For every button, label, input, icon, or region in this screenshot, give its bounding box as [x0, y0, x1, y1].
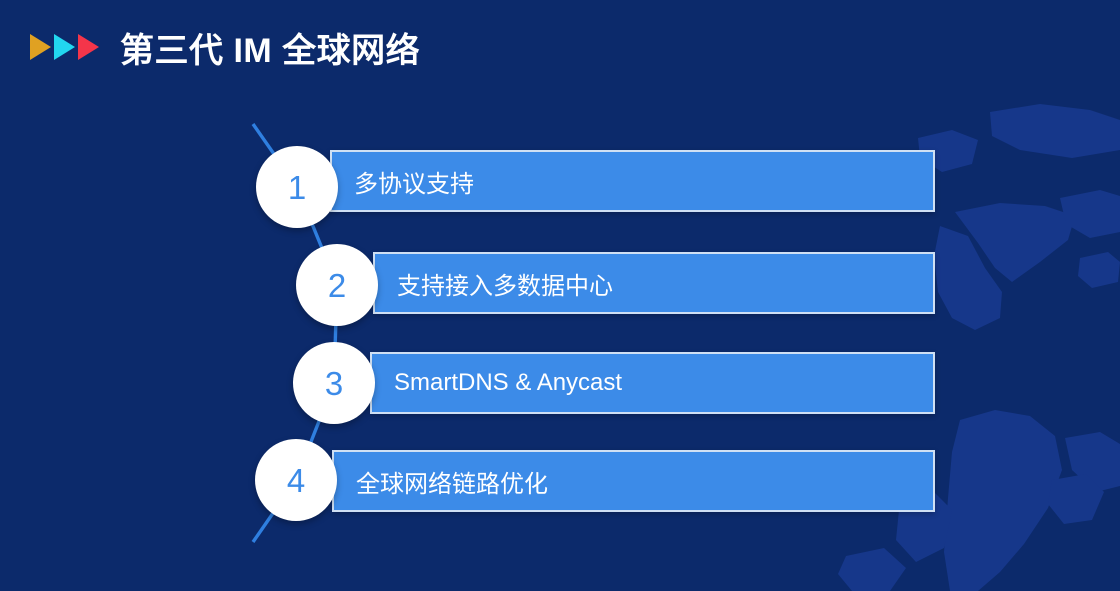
step-label-3: SmartDNS & Anycast — [394, 369, 622, 397]
step-number-3: 3 — [325, 367, 343, 400]
page-title-text: 第三代 IM 全球网络 — [120, 23, 420, 72]
step-label-4: 全球网络链路优化 — [356, 464, 548, 499]
step-circle-2[interactable]: 2 — [296, 244, 378, 326]
step-number-2: 2 — [328, 269, 346, 302]
step-circle-3[interactable]: 3 — [293, 342, 375, 424]
play-triangle-cyan-icon — [54, 34, 75, 60]
play-triangle-amber-icon — [30, 34, 51, 60]
step-number-1: 1 — [288, 171, 306, 204]
page-title: 第三代 IM 全球网络 — [30, 22, 420, 72]
step-bar-2[interactable]: 支持接入多数据中心 — [373, 252, 935, 314]
step-bar-4[interactable]: 全球网络链路优化 — [332, 450, 935, 512]
step-circle-1[interactable]: 1 — [256, 146, 338, 228]
play-triangle-red-icon — [78, 34, 99, 60]
slide-canvas: 第三代 IM 全球网络 多协议支持 1 支持接入多数据中心 2 — [0, 0, 1120, 591]
step-circle-4[interactable]: 4 — [255, 439, 337, 521]
step-bar-1[interactable]: 多协议支持 — [330, 150, 935, 212]
step-label-1: 多协议支持 — [354, 164, 474, 199]
step-bar-3[interactable]: SmartDNS & Anycast — [370, 352, 935, 414]
step-label-2: 支持接入多数据中心 — [397, 266, 613, 301]
step-number-4: 4 — [287, 464, 305, 497]
